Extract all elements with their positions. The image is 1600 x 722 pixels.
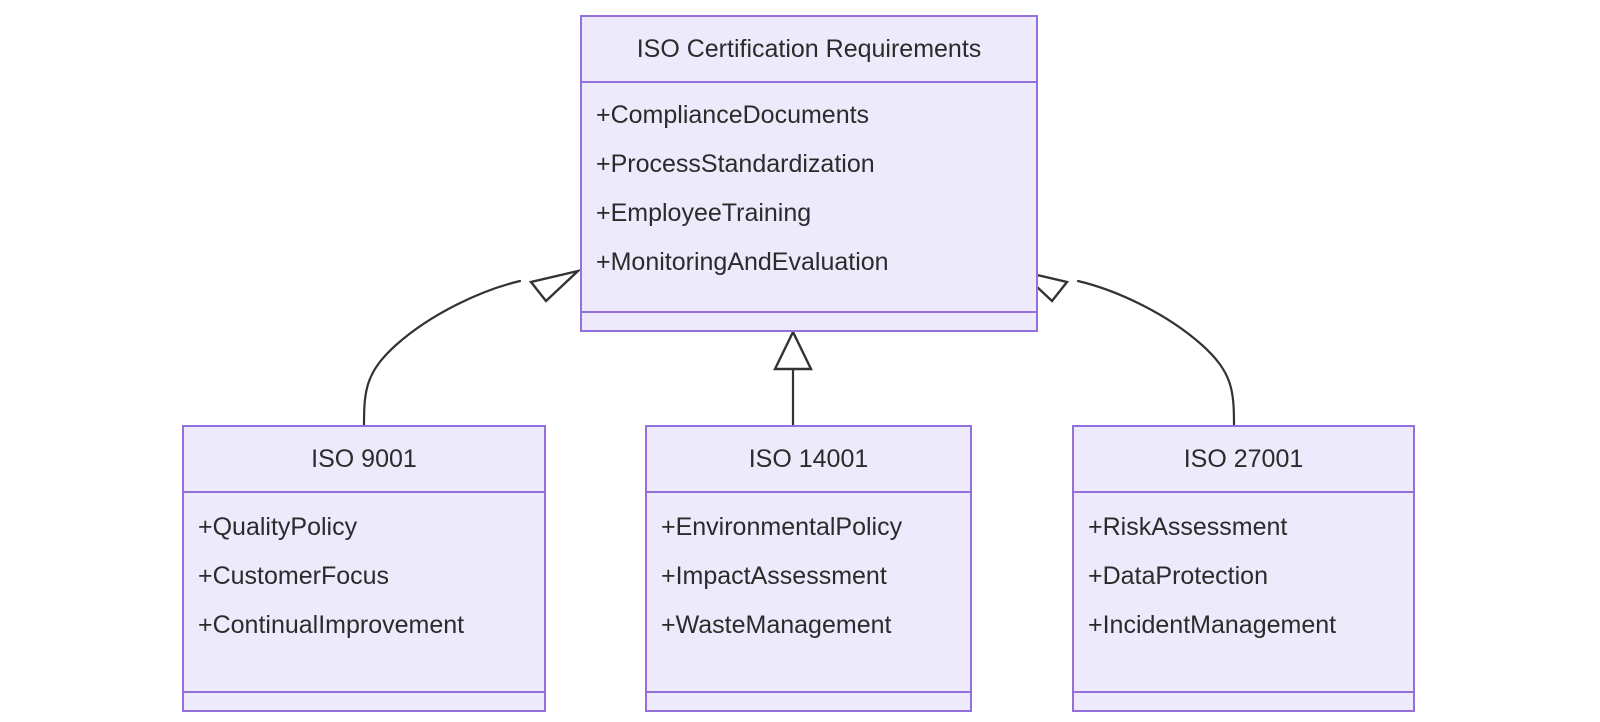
attribute-row: +WasteManagement — [661, 613, 956, 638]
attribute-row: +DataProtection — [1088, 564, 1399, 589]
class-methods-iso27001 — [1074, 693, 1413, 710]
class-node-iso-9001[interactable]: ISO 9001 +QualityPolicy +CustomerFocus +… — [182, 425, 546, 712]
attribute-row: +RiskAssessment — [1088, 515, 1399, 540]
attribute-row: +IncidentManagement — [1088, 613, 1399, 638]
class-node-iso-14001[interactable]: ISO 14001 +EnvironmentalPolicy +ImpactAs… — [645, 425, 972, 712]
attribute-row: +CustomerFocus — [198, 564, 530, 589]
class-attributes-iso14001: +EnvironmentalPolicy +ImpactAssessment +… — [647, 493, 970, 693]
attribute-row: +EnvironmentalPolicy — [661, 515, 956, 540]
edge-iso9001-to-parent — [364, 271, 578, 425]
class-attributes-iso27001: +RiskAssessment +DataProtection +Inciden… — [1074, 493, 1413, 693]
edge-iso27001-to-parent — [1020, 271, 1234, 425]
attribute-row: +ComplianceDocuments — [596, 103, 1022, 128]
class-title-iso27001: ISO 27001 — [1074, 427, 1413, 493]
attribute-row: +QualityPolicy — [198, 515, 530, 540]
class-title-parent: ISO Certification Requirements — [582, 17, 1036, 83]
class-methods-iso14001 — [647, 693, 970, 710]
uml-class-diagram-canvas: ISO Certification Requirements +Complian… — [0, 0, 1600, 722]
edge-iso14001-to-parent — [775, 332, 811, 425]
class-methods-parent — [582, 313, 1036, 330]
class-title-iso9001: ISO 9001 — [184, 427, 544, 493]
class-attributes-iso9001: +QualityPolicy +CustomerFocus +Continual… — [184, 493, 544, 693]
class-attributes-parent: +ComplianceDocuments +ProcessStandardiza… — [582, 83, 1036, 313]
class-methods-iso9001 — [184, 693, 544, 710]
class-node-iso-certification-requirements[interactable]: ISO Certification Requirements +Complian… — [580, 15, 1038, 332]
attribute-row: +EmployeeTraining — [596, 201, 1022, 226]
attribute-row: +MonitoringAndEvaluation — [596, 250, 1022, 275]
attribute-row: +ImpactAssessment — [661, 564, 956, 589]
class-title-iso14001: ISO 14001 — [647, 427, 970, 493]
class-node-iso-27001[interactable]: ISO 27001 +RiskAssessment +DataProtectio… — [1072, 425, 1415, 712]
attribute-row: +ProcessStandardization — [596, 152, 1022, 177]
attribute-row: +ContinualImprovement — [198, 613, 530, 638]
